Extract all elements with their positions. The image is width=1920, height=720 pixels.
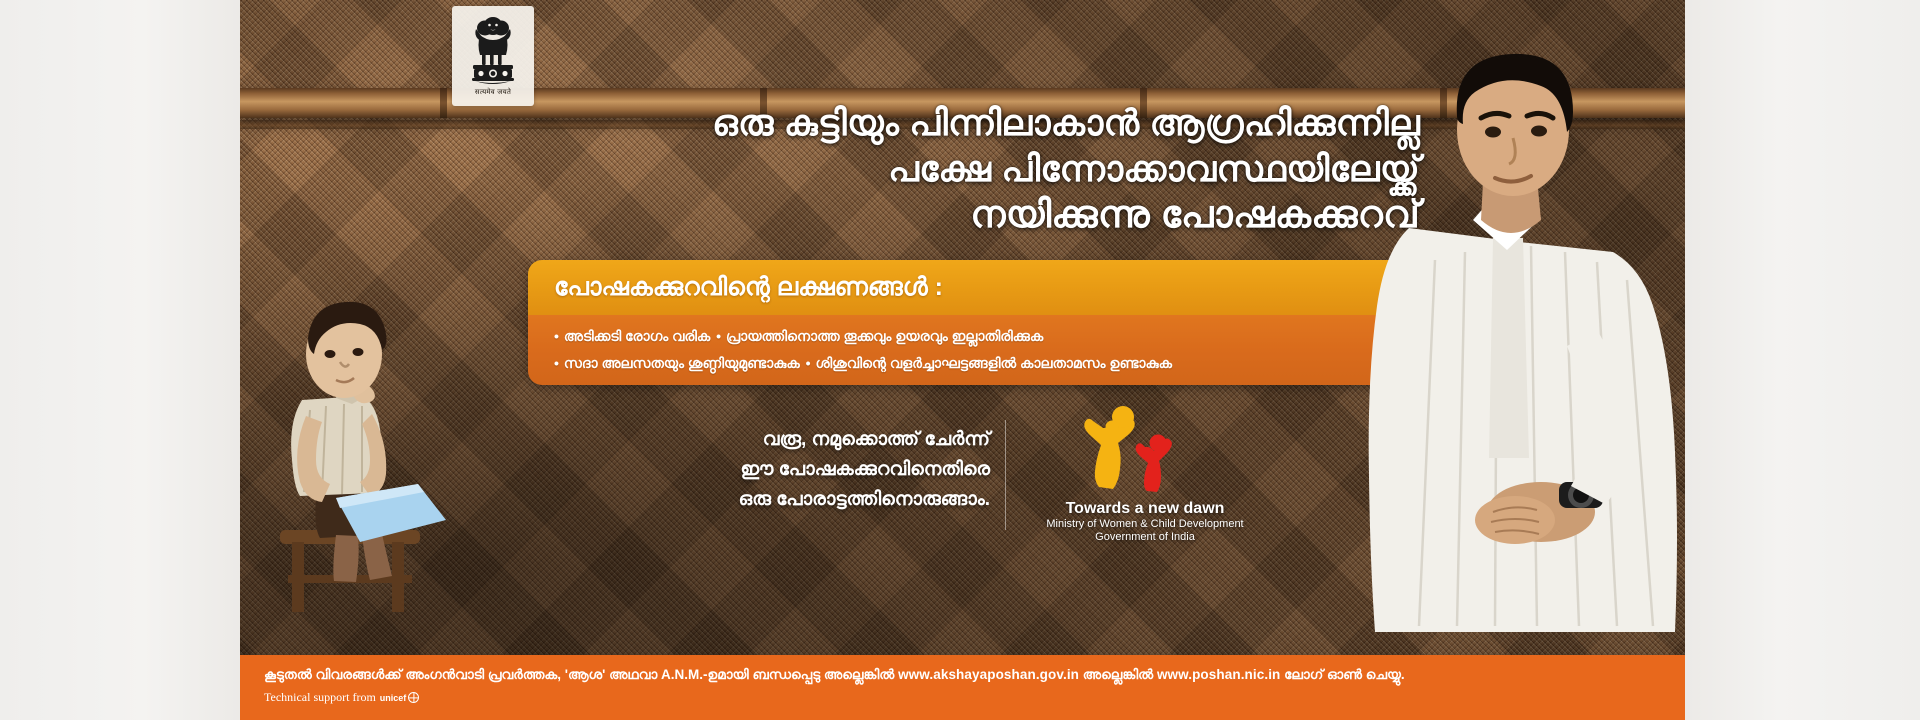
poshan-url[interactable]: www.poshan.nic.in	[1157, 667, 1280, 682]
akshayaposhan-url[interactable]: www.akshayaposhan.gov.in	[898, 667, 1079, 682]
photo-boy	[240, 230, 540, 630]
state-emblem-plaque: सत्यमेव जयते	[452, 6, 534, 106]
bullet-icon: •	[716, 323, 721, 350]
symptom-row: •സദാ അലസതയും ശുണ്ഠിയുമുണ്ടാകുക •ശിശുവിന്…	[552, 350, 1421, 377]
technical-support: Technical support from unicef	[264, 690, 1661, 705]
photo-man	[1365, 30, 1685, 632]
globe-icon	[408, 692, 419, 703]
headline-line-1: ഒരു കുട്ടിയും പിന്നിലാകാൻ ആഗ്രഹിക്കുന്നി…	[240, 100, 1420, 146]
logo-title: Towards a new dawn	[1030, 500, 1260, 518]
unicef-logo: unicef	[380, 692, 420, 703]
symptom-panel-heading: പോഷകക്കുറവിന്റെ ലക്ഷണങ്ങൾ :	[554, 273, 943, 302]
symptom-row: •അടിക്കടി രോഗം വരിക •പ്രായത്തിനൊത്ത തൂക്…	[552, 323, 1421, 350]
unicef-wordmark: unicef	[380, 693, 407, 703]
contact-message-part3: ലോഗ് ഓൺ ചെയ്യു.	[1280, 667, 1404, 682]
page-margin-left	[0, 0, 240, 720]
technical-support-label: Technical support from	[264, 690, 376, 705]
contact-message-part2: അല്ലെങ്കിൽ	[1079, 667, 1157, 682]
symptom-panel: പോഷകക്കുറവിന്റെ ലക്ഷണങ്ങൾ : •അടിക്കടി രോ…	[528, 260, 1421, 385]
headline-line-3: നയിക്കുന്നു പോഷകക്കുറവ്	[240, 192, 1420, 238]
poster-root: सत्यमेव जयते	[0, 0, 1920, 720]
headline: ഒരു കുട്ടിയും പിന്നിലാകാൻ ആഗ്രഹിക്കുന്നി…	[240, 100, 1420, 238]
logo-subtitle-government: Government of India	[1030, 531, 1260, 544]
towards-a-new-dawn-logo-icon	[1075, 405, 1215, 493]
emblem-motto: सत्यमेव जयते	[475, 88, 511, 97]
state-emblem-of-india-icon	[465, 15, 521, 87]
poster-artwork: सत्यमेव जयते	[240, 0, 1685, 720]
symptom-item: സദാ അലസതയും ശുണ്ഠിയുമുണ്ടാകുക	[564, 355, 800, 371]
call-to-action: വരൂ, നമുക്കൊത്ത് ചേർന്ന് ഈ പോഷകക്കുറവിനെ…	[680, 425, 990, 515]
symptom-panel-header: പോഷകക്കുറവിന്റെ ലക്ഷണങ്ങൾ :	[528, 260, 1421, 315]
cta-line-2: ഈ പോഷകക്കുറവിനെതിരെ	[680, 455, 990, 485]
bullet-icon: •	[554, 323, 559, 350]
contact-message: കൂടുതൽ വിവരങ്ങൾക്ക് അംഗൻവാടി പ്രവർത്തക, …	[264, 665, 1661, 685]
symptom-item: ശിശുവിന്റെ വളർച്ചാഘട്ടങ്ങളിൽ കാലതാമസം ഉണ…	[816, 355, 1173, 371]
bullet-icon: •	[554, 350, 559, 377]
ministry-logo-block: Towards a new dawn Ministry of Women & C…	[1030, 405, 1260, 544]
symptom-item: പ്രായത്തിനൊത്ത തൂക്കവും ഉയരവും ഇല്ലാതിരി…	[726, 328, 1043, 344]
bottom-info-strip: കൂടുതൽ വിവരങ്ങൾക്ക് അംഗൻവാടി പ്രവർത്തക, …	[240, 655, 1685, 720]
page-margin-right	[1685, 0, 1920, 720]
logo-subtitle-ministry: Ministry of Women & Child Development	[1030, 518, 1260, 531]
symptom-item: അടിക്കടി രോഗം വരിക	[564, 328, 710, 344]
vertical-divider	[1005, 420, 1006, 530]
bullet-icon: •	[806, 350, 811, 377]
headline-line-2: പക്ഷേ പിന്നോക്കാവസ്ഥയിലേയ്ക്ക്	[240, 146, 1420, 192]
symptom-panel-body: •അടിക്കടി രോഗം വരിക •പ്രായത്തിനൊത്ത തൂക്…	[528, 315, 1421, 385]
cta-line-3: ഒരു പോരാട്ടത്തിനൊരുങ്ങാം.	[680, 485, 990, 515]
cta-line-1: വരൂ, നമുക്കൊത്ത് ചേർന്ന്	[680, 425, 990, 455]
contact-message-part1: കൂടുതൽ വിവരങ്ങൾക്ക് അംഗൻവാടി പ്രവർത്തക, …	[264, 667, 898, 682]
